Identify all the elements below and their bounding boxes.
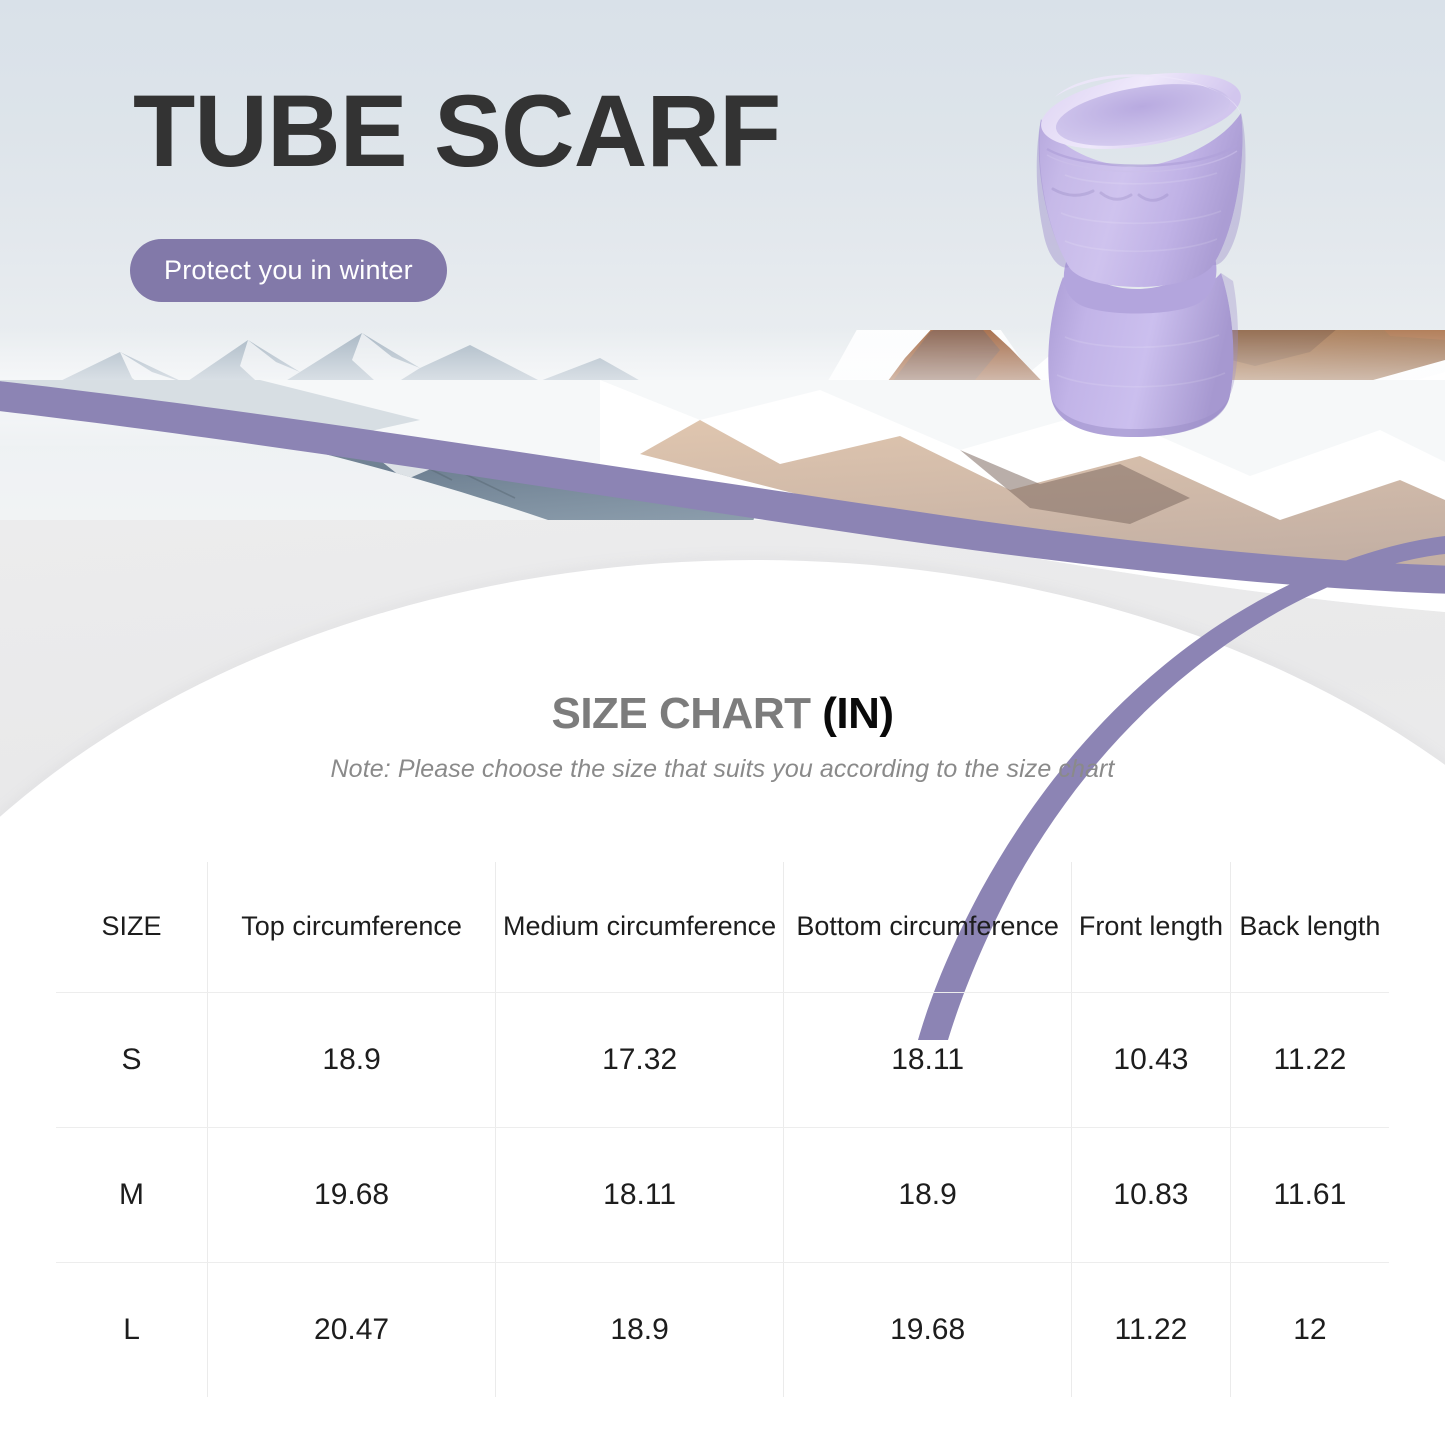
chart-title-unit: (IN) bbox=[822, 689, 893, 738]
chart-note: Note: Please choose the size that suits … bbox=[0, 755, 1445, 784]
product-image-tube-scarf bbox=[985, 45, 1285, 445]
cell-back: 11.22 bbox=[1230, 992, 1389, 1127]
table-row: S 18.9 17.32 18.11 10.43 11.22 bbox=[56, 992, 1389, 1127]
cell-medium: 17.32 bbox=[496, 992, 784, 1127]
cell-back: 12 bbox=[1230, 1262, 1389, 1397]
cell-top: 19.68 bbox=[208, 1127, 496, 1262]
table-row: M 19.68 18.11 18.9 10.83 11.61 bbox=[56, 1127, 1389, 1262]
col-header-medium: Medium circumference bbox=[496, 862, 784, 992]
chart-title: SIZE CHART (IN) bbox=[0, 690, 1445, 738]
cell-top: 20.47 bbox=[208, 1262, 496, 1397]
cell-size: M bbox=[56, 1127, 208, 1262]
cell-medium: 18.9 bbox=[496, 1262, 784, 1397]
cell-top: 18.9 bbox=[208, 992, 496, 1127]
table-header: SIZE Top circumference Medium circumfere… bbox=[56, 862, 1389, 992]
table-row: L 20.47 18.9 19.68 11.22 12 bbox=[56, 1262, 1389, 1397]
cell-bottom: 18.11 bbox=[784, 992, 1072, 1127]
chart-title-main: SIZE CHART bbox=[551, 689, 822, 738]
size-chart-header: SIZE CHART (IN) Note: Please choose the … bbox=[0, 690, 1445, 784]
cell-size: L bbox=[56, 1262, 208, 1397]
cell-front: 10.43 bbox=[1072, 992, 1231, 1127]
cell-front: 10.83 bbox=[1072, 1127, 1231, 1262]
page-title: TUBE SCARF bbox=[133, 78, 780, 185]
cell-back: 11.61 bbox=[1230, 1127, 1389, 1262]
size-chart-table: SIZE Top circumference Medium circumfere… bbox=[56, 862, 1389, 1397]
cell-front: 11.22 bbox=[1072, 1262, 1231, 1397]
cell-bottom: 18.9 bbox=[784, 1127, 1072, 1262]
cell-size: S bbox=[56, 992, 208, 1127]
table-body: S 18.9 17.32 18.11 10.43 11.22 M 19.68 1… bbox=[56, 992, 1389, 1397]
col-header-bottom: Bottom circumference bbox=[784, 862, 1072, 992]
cell-bottom: 19.68 bbox=[784, 1262, 1072, 1397]
table-header-row: SIZE Top circumference Medium circumfere… bbox=[56, 862, 1389, 992]
col-header-front: Front length bbox=[1072, 862, 1231, 992]
col-header-back: Back length bbox=[1230, 862, 1389, 992]
col-header-size: SIZE bbox=[56, 862, 208, 992]
cell-medium: 18.11 bbox=[496, 1127, 784, 1262]
tagline-badge: Protect you in winter bbox=[130, 239, 447, 302]
col-header-top: Top circumference bbox=[208, 862, 496, 992]
size-chart-infographic: TUBE SCARF Protect you in winter bbox=[0, 0, 1445, 1445]
